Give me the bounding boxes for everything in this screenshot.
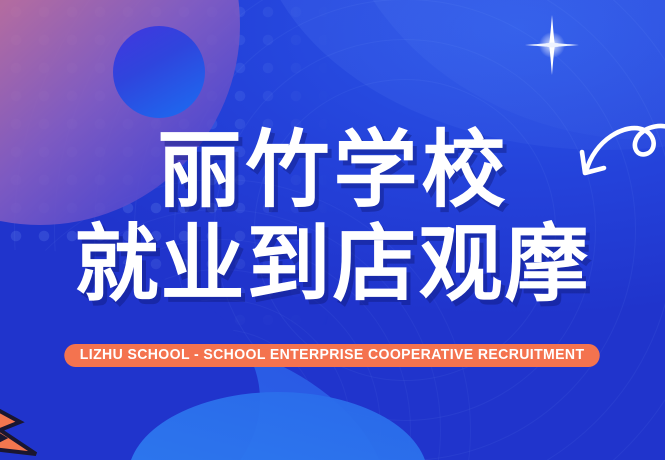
subtitle-block: LIZHU SCHOOL - SCHOOL ENTERPRISE COOPERA… xyxy=(0,344,665,367)
headline-line-1: 丽竹学校 xyxy=(0,128,665,212)
subtitle-pill: LIZHU SCHOOL - SCHOOL ENTERPRISE COOPERA… xyxy=(65,344,601,367)
headline-line-2: 就业到店观摩 xyxy=(0,222,665,306)
orange-chevron-icon xyxy=(0,392,66,460)
headline-block: 丽竹学校 就业到店观摩 xyxy=(0,128,665,306)
sparkle-icon xyxy=(524,14,580,76)
promo-banner: 丽竹学校 就业到店观摩 LIZHU SCHOOL - SCHOOL ENTERP… xyxy=(0,0,665,460)
blue-gradient-orb-decoration xyxy=(113,26,205,118)
